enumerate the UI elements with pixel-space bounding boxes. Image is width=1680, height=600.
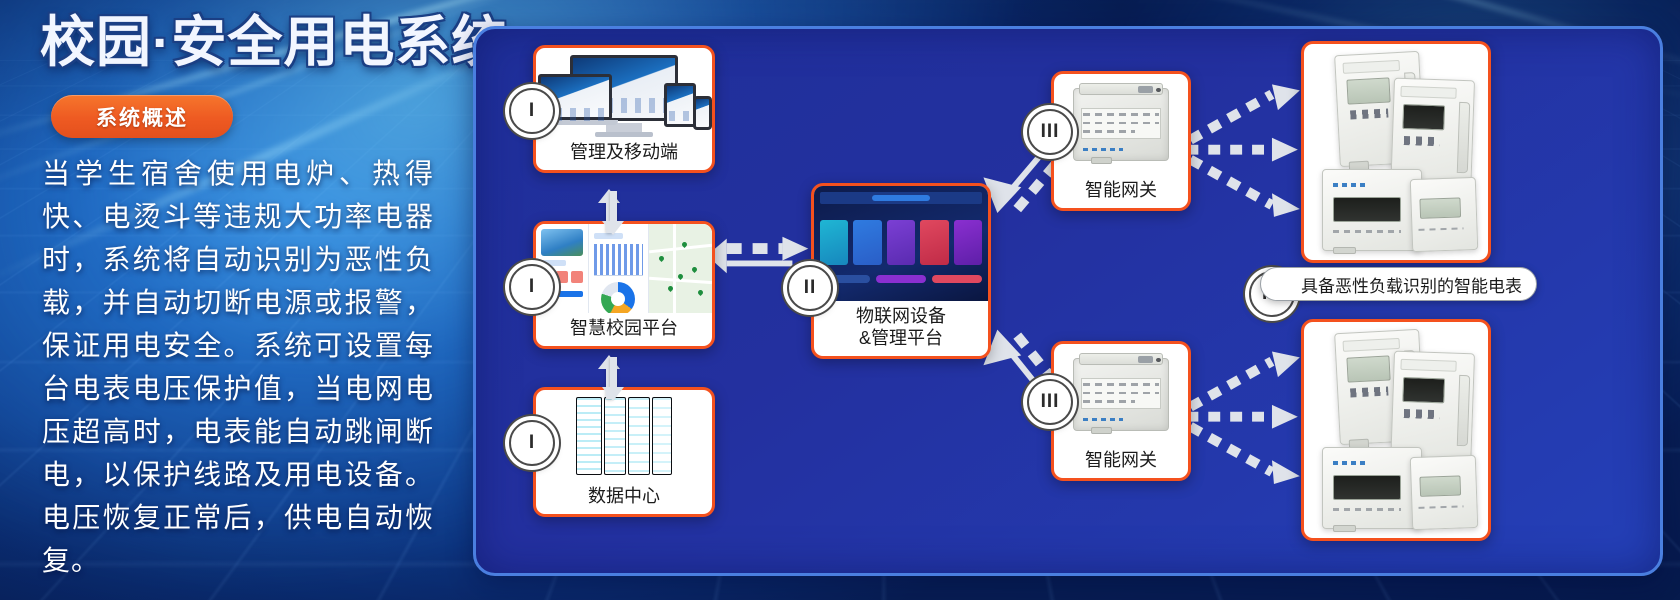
node-meters-bottom[interactable]: [1301, 319, 1491, 541]
page-title: 校园·安全用电系统: [40, 14, 507, 72]
node-campus-platform-label: 智慧校园平台: [536, 313, 712, 346]
node-iot-platform-label: 物联网设备 &管理平台: [814, 301, 988, 356]
multi-device-icon: [536, 48, 712, 137]
node-gateway-top-label: 智能网关: [1054, 175, 1188, 208]
badge-data-center: I: [509, 420, 555, 466]
node-data-center[interactable]: 数据中心: [533, 387, 715, 517]
node-data-center-label: 数据中心: [536, 481, 712, 514]
node-meters-top[interactable]: [1301, 41, 1491, 263]
section-badge-label: 系统概述: [96, 102, 188, 132]
badge-campus-platform: I: [509, 264, 555, 310]
intro-column: 校园·安全用电系统 系统概述 当学生宿舍使用电炉、热得快、电烫斗等违规大功率电器…: [0, 0, 470, 600]
section-badge-overview: 系统概述: [51, 95, 233, 138]
node-iot-platform-label-line1: 物联网设备: [856, 306, 946, 326]
smart-meter-icon: [1304, 44, 1488, 260]
meters-callout[interactable]: 具备恶性负载识别的智能电表: [1260, 267, 1537, 301]
node-gateway-bottom[interactable]: 智能网关: [1051, 341, 1191, 481]
node-iot-platform[interactable]: 物联网设备 &管理平台: [811, 183, 991, 359]
badge-iot-platform: II: [787, 265, 833, 311]
server-rack-icon: [536, 390, 712, 481]
smart-gateway-icon: [1054, 344, 1188, 445]
architecture-diagram-panel: 管理及移动端 I: [473, 26, 1663, 576]
badge-management: I: [509, 88, 555, 134]
node-campus-platform[interactable]: 智慧校园平台: [533, 221, 715, 349]
dashboard-map-icon: [536, 224, 712, 313]
node-management[interactable]: 管理及移动端: [533, 45, 715, 173]
connector-platform-to-iot: [707, 237, 808, 274]
smart-gateway-icon: [1054, 74, 1188, 175]
smart-meter-icon: [1304, 322, 1488, 538]
node-gateway-top[interactable]: 智能网关: [1051, 71, 1191, 211]
node-gateway-bottom-label: 智能网关: [1054, 445, 1188, 478]
node-management-label: 管理及移动端: [536, 137, 712, 170]
overview-paragraph: 当学生宿舍使用电炉、热得快、电烫斗等违规大功率电器时，系统将自动识别为恶性负载，…: [42, 152, 434, 582]
badge-gateway-top: III: [1027, 109, 1073, 155]
badge-gateway-bottom: III: [1027, 379, 1073, 425]
iot-dashboard-icon: [814, 186, 988, 301]
node-iot-platform-label-line2: &管理平台: [859, 328, 943, 348]
meters-callout-label: 具备恶性负载识别的智能电表: [1301, 272, 1522, 297]
